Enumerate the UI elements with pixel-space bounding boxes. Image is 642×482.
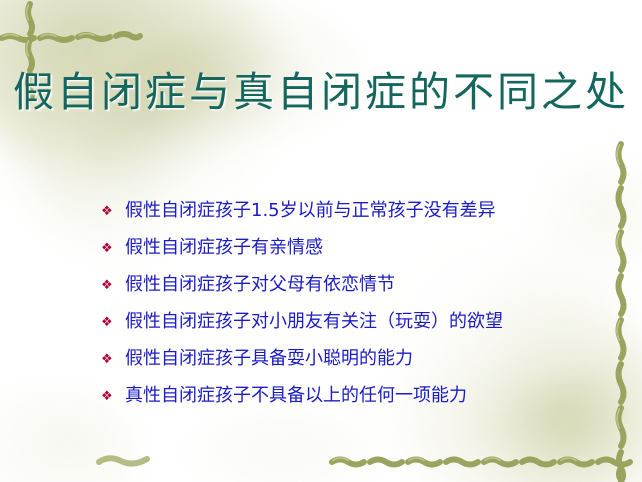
list-item: ❖ 假性自闭症孩子对父母有依恋情节: [101, 270, 601, 307]
list-item-label: 假性自闭症孩子对小朋友有关注（玩耍）的欲望: [125, 307, 601, 336]
diamond-bullet-icon: ❖: [101, 344, 125, 373]
bullet-list: ❖ 假性自闭症孩子1.5岁以前与正常孩子没有差异 ❖ 假性自闭症孩子有亲情感 ❖…: [101, 196, 601, 418]
list-item-label: 假性自闭症孩子有亲情感: [125, 233, 601, 262]
list-item: ❖ 假性自闭症孩子1.5岁以前与正常孩子没有差异: [101, 196, 601, 233]
diamond-bullet-icon: ❖: [101, 196, 125, 225]
diamond-bullet-icon: ❖: [101, 307, 125, 336]
bamboo-stalk-icon: [600, 140, 642, 482]
list-item-label: 假性自闭症孩子对父母有依恋情节: [125, 270, 601, 299]
list-item: ❖ 假性自闭症孩子具备耍小聪明的能力: [101, 344, 601, 381]
list-item: ❖ 真性自闭症孩子不具备以上的任何一项能力: [101, 381, 601, 418]
list-item: ❖ 假性自闭症孩子对小朋友有关注（玩耍）的欲望: [101, 307, 601, 344]
page-title: 假自闭症与真自闭症的不同之处: [0, 66, 642, 118]
diamond-bullet-icon: ❖: [101, 233, 125, 262]
bamboo-segment-icon: [95, 448, 159, 470]
slide-canvas: 假自闭症与真自闭症的不同之处 ❖ 假性自闭症孩子1.5岁以前与正常孩子没有差异 …: [0, 0, 642, 482]
diamond-bullet-icon: ❖: [101, 381, 125, 410]
list-item-label: 假性自闭症孩子具备耍小聪明的能力: [125, 344, 601, 373]
list-item-label: 真性自闭症孩子不具备以上的任何一项能力: [125, 381, 601, 410]
diamond-bullet-icon: ❖: [101, 270, 125, 299]
list-item-label: 假性自闭症孩子1.5岁以前与正常孩子没有差异: [125, 196, 601, 225]
list-item: ❖ 假性自闭症孩子有亲情感: [101, 233, 601, 270]
